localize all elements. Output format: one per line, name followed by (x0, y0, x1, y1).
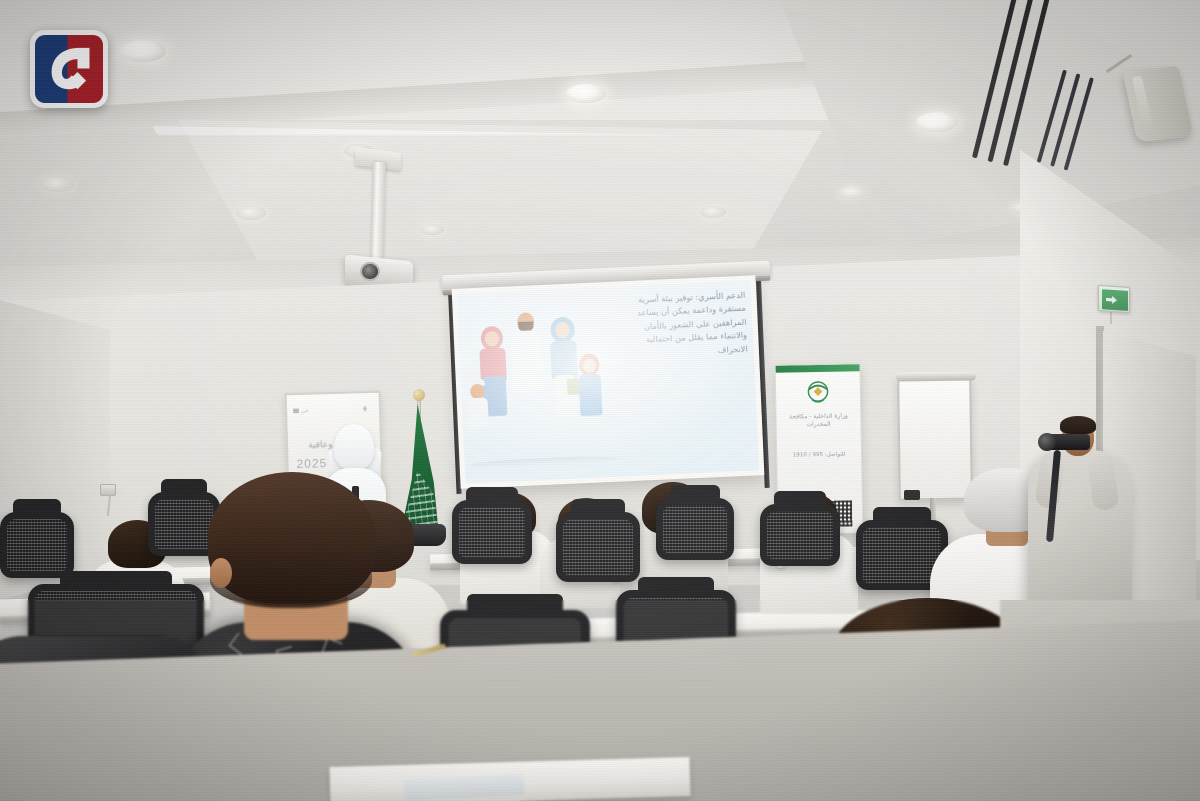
exit-sign-stem (1110, 312, 1112, 324)
ceiling-downlight (566, 84, 606, 103)
poster-logo-row: المن (293, 401, 373, 417)
ceiling-downlight (420, 224, 444, 235)
logo-hook-icon (43, 40, 95, 97)
ceiling-downlight (120, 40, 166, 62)
slide-surface: الدعم الأسري: توفير بيئة أسرية مستقرة ود… (457, 280, 759, 483)
office-chair[interactable] (452, 500, 532, 564)
flipchart-top-bar (896, 371, 976, 381)
logo-mark (35, 35, 103, 103)
projection-screen: الدعم الأسري: توفير بيئة أسرية مستقرة ود… (452, 275, 765, 489)
banner-heading: وزارة الداخلية - مكافحة المخدرات (780, 412, 856, 429)
ceiling-downlight (40, 176, 74, 192)
banner-top-stripe (776, 364, 860, 372)
ceiling-downlight (236, 206, 266, 220)
presenter-ghutra (334, 424, 374, 470)
office-chair[interactable] (0, 512, 74, 578)
ceiling-downlight (700, 206, 726, 218)
photo-canvas: الدعم الأسري: توفير بيئة أسرية مستقرة ود… (0, 0, 1200, 801)
svg-text:المن: المن (301, 408, 309, 413)
slide-projection-glow (457, 280, 759, 483)
poster-logo-right-icon (357, 402, 373, 413)
office-chair[interactable] (556, 512, 640, 582)
projector-lens-icon (360, 262, 380, 281)
poster-logo-left-icon: المن (293, 404, 319, 416)
banner-subheading: للتواصل: 995 / 1910 (781, 450, 857, 459)
wall-socket (100, 484, 116, 496)
flag-finial (413, 389, 425, 401)
camera-lens-icon (1038, 433, 1056, 451)
ceiling-downlight (838, 186, 866, 199)
ceiling-downlight (916, 112, 958, 132)
corner-logo-badge (30, 30, 108, 108)
banner-emblem-icon (803, 379, 833, 408)
exit-icon (1102, 289, 1128, 311)
exit-sign (1098, 285, 1130, 313)
office-chair[interactable] (656, 498, 734, 560)
office-chair[interactable] (760, 504, 840, 566)
flipchart-marker (904, 490, 920, 500)
